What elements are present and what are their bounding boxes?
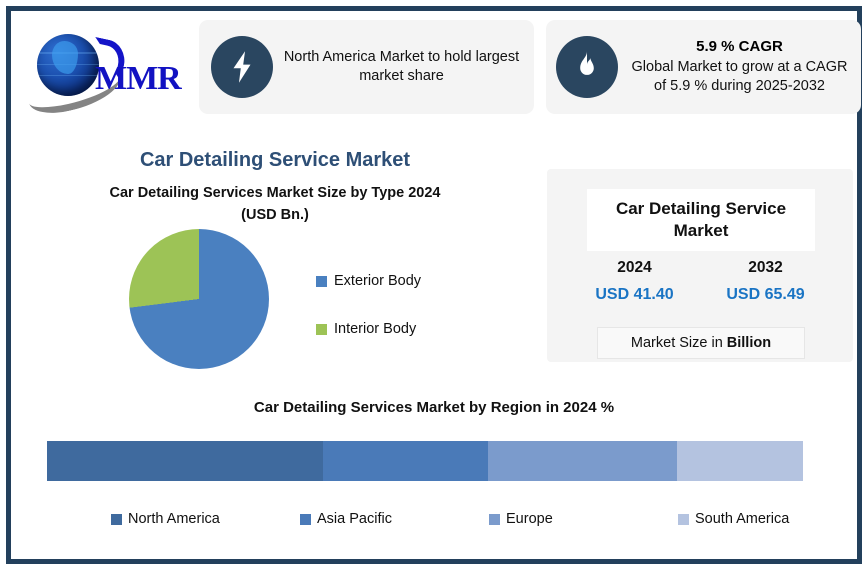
- region-legend-label: North America: [128, 511, 220, 527]
- region-legend-item: Asia Pacific: [236, 511, 425, 527]
- pie-legend-swatch: [316, 324, 327, 335]
- panel-value-end: USD 65.49: [700, 286, 831, 304]
- panel-value-start: USD 41.40: [569, 286, 700, 304]
- infographic-frame: MMR North America Market to hold largest…: [6, 6, 862, 564]
- panel-col-end: 2032 USD 65.49: [700, 259, 831, 304]
- header-card-1-text: North America Market to hold largest mar…: [283, 48, 520, 86]
- header-card-north-america: North America Market to hold largest mar…: [199, 20, 534, 114]
- header-card-2-body: 5.9 % CAGR Global Market to grow at a CA…: [628, 37, 851, 96]
- pie-chart: [129, 229, 269, 369]
- region-chart-title: Car Detailing Services Market by Region …: [11, 399, 857, 416]
- pie-chart-graphic: [129, 229, 269, 369]
- pie-legend-item: Interior Body: [316, 321, 516, 337]
- region-legend-swatch: [678, 514, 689, 525]
- pie-legend-swatch: [316, 276, 327, 287]
- region-bar-segment: [47, 441, 323, 481]
- panel-year-start: 2024: [569, 259, 700, 277]
- panel-footer: Market Size in Billion: [597, 327, 805, 359]
- lightning-bolt-icon: [211, 36, 273, 98]
- pie-chart-title-line1: Car Detailing Services Market Size by Ty…: [29, 183, 521, 205]
- header-card-2-text: Global Market to grow at a CAGR of 5.9 %…: [628, 58, 851, 96]
- panel-heading: Car Detailing Service Market: [587, 189, 815, 251]
- header-card-2-title: 5.9 % CAGR: [628, 37, 851, 57]
- region-bar-segment: [323, 441, 488, 481]
- region-legend-swatch: [300, 514, 311, 525]
- panel-footer-prefix: Market Size in: [631, 335, 723, 351]
- mmr-logo: MMR: [25, 20, 195, 115]
- panel-footer-unit: Billion: [727, 335, 771, 351]
- panel-year-values: 2024 USD 41.40 2032 USD 65.49: [569, 259, 831, 304]
- pie-chart-title-line2: (USD Bn.): [29, 205, 521, 227]
- market-size-panel: Car Detailing Service Market 2024 USD 41…: [547, 169, 853, 362]
- pie-legend-item: Exterior Body: [316, 273, 516, 289]
- region-bar-segment: [488, 441, 678, 481]
- region-chart-legend: North AmericaAsia PacificEuropeSouth Ame…: [47, 511, 803, 527]
- region-bar-segment: [677, 441, 802, 481]
- region-legend-label: Europe: [506, 511, 553, 527]
- pie-legend-label: Exterior Body: [334, 273, 421, 289]
- header-card-cagr: 5.9 % CAGR Global Market to grow at a CA…: [546, 20, 861, 114]
- infographic-page: MMR North America Market to hold largest…: [0, 0, 868, 570]
- region-legend-swatch: [111, 514, 122, 525]
- panel-year-end: 2032: [700, 259, 831, 277]
- flame-icon: [556, 36, 618, 98]
- region-legend-item: North America: [47, 511, 236, 527]
- region-legend-item: South America: [614, 511, 803, 527]
- region-legend-swatch: [489, 514, 500, 525]
- pie-chart-legend: Exterior BodyInterior Body: [316, 273, 516, 369]
- region-stacked-bar: [47, 441, 803, 481]
- header-row: MMR North America Market to hold largest…: [11, 11, 857, 123]
- pie-chart-title: Car Detailing Services Market Size by Ty…: [29, 183, 521, 227]
- region-legend-label: South America: [695, 511, 789, 527]
- region-legend-item: Europe: [425, 511, 614, 527]
- region-legend-label: Asia Pacific: [317, 511, 392, 527]
- page-title: Car Detailing Service Market: [11, 149, 539, 172]
- pie-legend-label: Interior Body: [334, 321, 416, 337]
- logo-text: MMR: [95, 60, 181, 98]
- panel-col-start: 2024 USD 41.40: [569, 259, 700, 304]
